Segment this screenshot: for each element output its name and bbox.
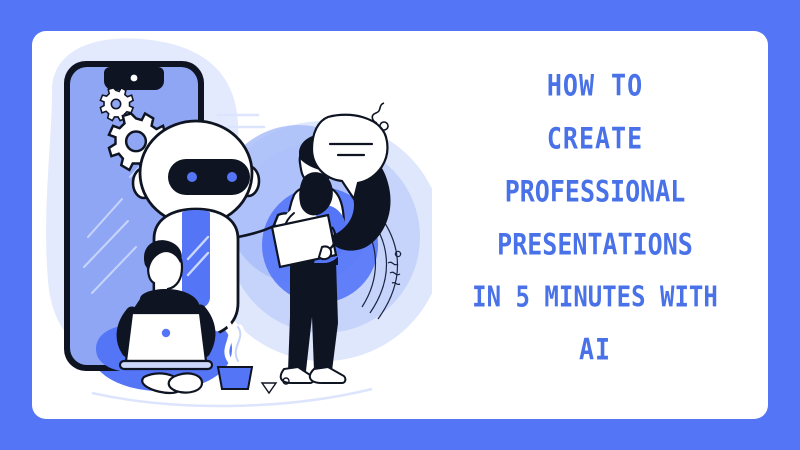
headline-line-1: HOW TO [547,71,643,101]
ground-line [92,389,372,406]
poster-canvas: HOW TO CREATE PROFESSIONAL PRESENTATIONS… [0,0,800,450]
headline: HOW TO CREATE PROFESSIONAL PRESENTATIONS… [430,65,760,395]
headline-line-2: CREATE [547,124,643,154]
illustration [32,31,432,419]
headline-line-3: PROFESSIONAL [505,177,686,207]
poster-card: HOW TO CREATE PROFESSIONAL PRESENTATIONS… [32,31,768,419]
headline-line-5: IN 5 MINUTES WITH [472,283,718,311]
illustration-svg [32,31,432,419]
headline-line-6: AI [579,335,611,365]
headline-line-4: PRESENTATIONS [497,230,693,260]
